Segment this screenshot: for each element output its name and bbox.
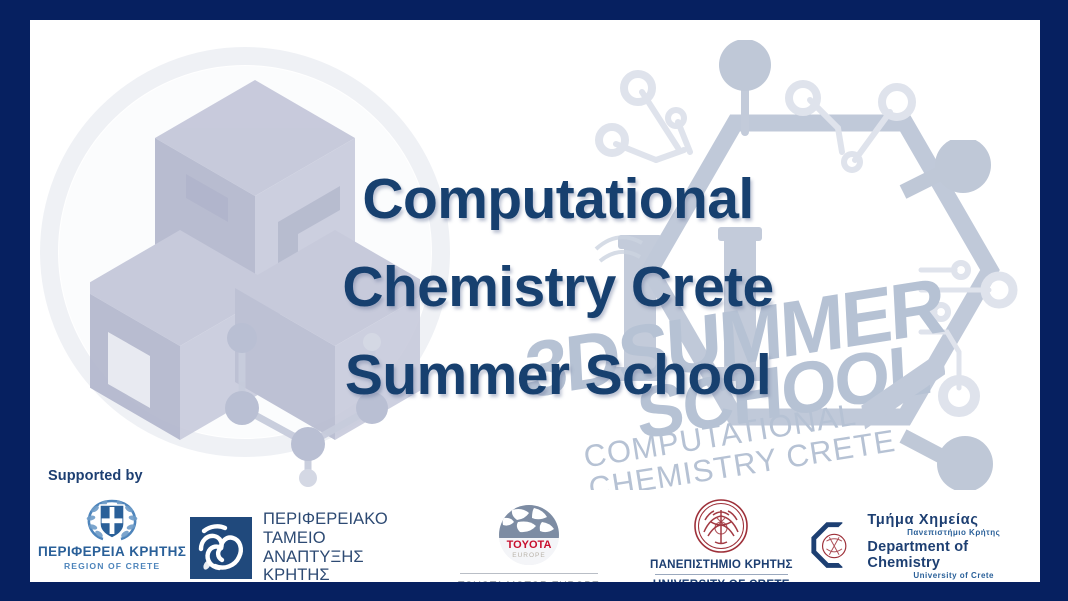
spiral-mark-icon xyxy=(190,517,252,579)
chemistry-sub-en: University of Crete xyxy=(867,571,1040,580)
toyota-mark-sub: EUROPE xyxy=(512,552,545,559)
toyota-divider xyxy=(460,573,598,574)
title-line-2: Chemistry Crete xyxy=(278,243,838,331)
region-of-crete-name-en: REGION OF CRETE xyxy=(64,561,160,571)
fund-line-1: ΠΕΡΙΦΕΡΕΙΑΚΟ xyxy=(263,510,388,529)
title-line-1: Computational xyxy=(278,155,838,243)
logo-regional-development-fund: ΠΕΡΙΦΕΡΕΙΑΚΟ ΤΑΜΕΙΟ ΑΝΑΠΤΥΞΗΣ ΚΡΗΤΗΣ xyxy=(190,510,388,582)
slide-title: Computational Chemistry Crete Summer Sch… xyxy=(278,155,838,419)
fund-line-3: ΑΝΑΠΤΥΞΗΣ xyxy=(263,548,388,567)
presentation-slide: 3DSUMMER SCHOOL COMPUTATIONAL CHEMISTRY … xyxy=(0,0,1068,601)
circuit-traces-right-graphic xyxy=(885,140,1040,490)
logo-university-of-crete: ΠΑΝΕΠΙΣΤΗΜΙΟ ΚΡΗΤΗΣ UNIVERSITY OF CRETE xyxy=(650,498,793,582)
chemistry-octagon-icon xyxy=(808,519,860,573)
fund-name-block: ΠΕΡΙΦΕΡΕΙΑΚΟ ΤΑΜΕΙΟ ΑΝΑΠΤΥΞΗΣ ΚΡΗΤΗΣ xyxy=(263,510,388,582)
supported-by-label: Supported by xyxy=(48,468,143,484)
greek-coat-of-arms-icon xyxy=(82,496,142,542)
uoc-divider xyxy=(655,574,788,575)
logo-region-of-crete: ΠΕΡΙΦΕΡΕΙΑ ΚΡΗΤΗΣ REGION OF CRETE xyxy=(38,496,186,571)
fund-line-4: ΚΡΗΤΗΣ xyxy=(263,566,388,582)
uoc-name-en: UNIVERSITY OF CRETE xyxy=(653,578,790,582)
uoc-name-gr: ΠΑΝΕΠΙΣΤΗΜΙΟ ΚΡΗΤΗΣ xyxy=(650,558,793,571)
fund-line-2: ΤΑΜΕΙΟ xyxy=(263,529,388,548)
sponsor-logo-bar: ΠΕΡΙΦΕΡΕΙΑ ΚΡΗΤΗΣ REGION OF CRETE xyxy=(30,492,1040,582)
title-line-3: Summer School xyxy=(278,331,838,419)
region-of-crete-name-gr: ΠΕΡΙΦΕΡΕΙΑ ΚΡΗΤΗΣ xyxy=(38,544,186,559)
watermark-subtext-2: CHEMISTRY CRETE xyxy=(586,423,898,490)
logo-toyota-motor-europe: TOYOTA EUROPE TOYOTA MOTOR EUROPE xyxy=(458,504,599,582)
university-seal-icon xyxy=(691,498,751,556)
slide-canvas: 3DSUMMER SCHOOL COMPUTATIONAL CHEMISTRY … xyxy=(30,20,1040,582)
toyota-mark-text: TOYOTA xyxy=(506,539,551,551)
logo-department-of-chemistry: Τμήμα Χημείας Πανεπιστήμιο Κρήτης Depart… xyxy=(808,512,1040,580)
chemistry-sub-gr: Πανεπιστήμιο Κρήτης xyxy=(867,528,1040,537)
toyota-caption: TOYOTA MOTOR EUROPE xyxy=(458,580,599,582)
chemistry-name-gr: Τμήμα Χημείας xyxy=(867,512,1040,528)
toyota-europe-globe-icon: TOYOTA EUROPE xyxy=(498,504,560,566)
chemistry-name-en: Department of Chemistry xyxy=(867,539,1040,571)
chemistry-name-block: Τμήμα Χημείας Πανεπιστήμιο Κρήτης Depart… xyxy=(867,512,1040,580)
